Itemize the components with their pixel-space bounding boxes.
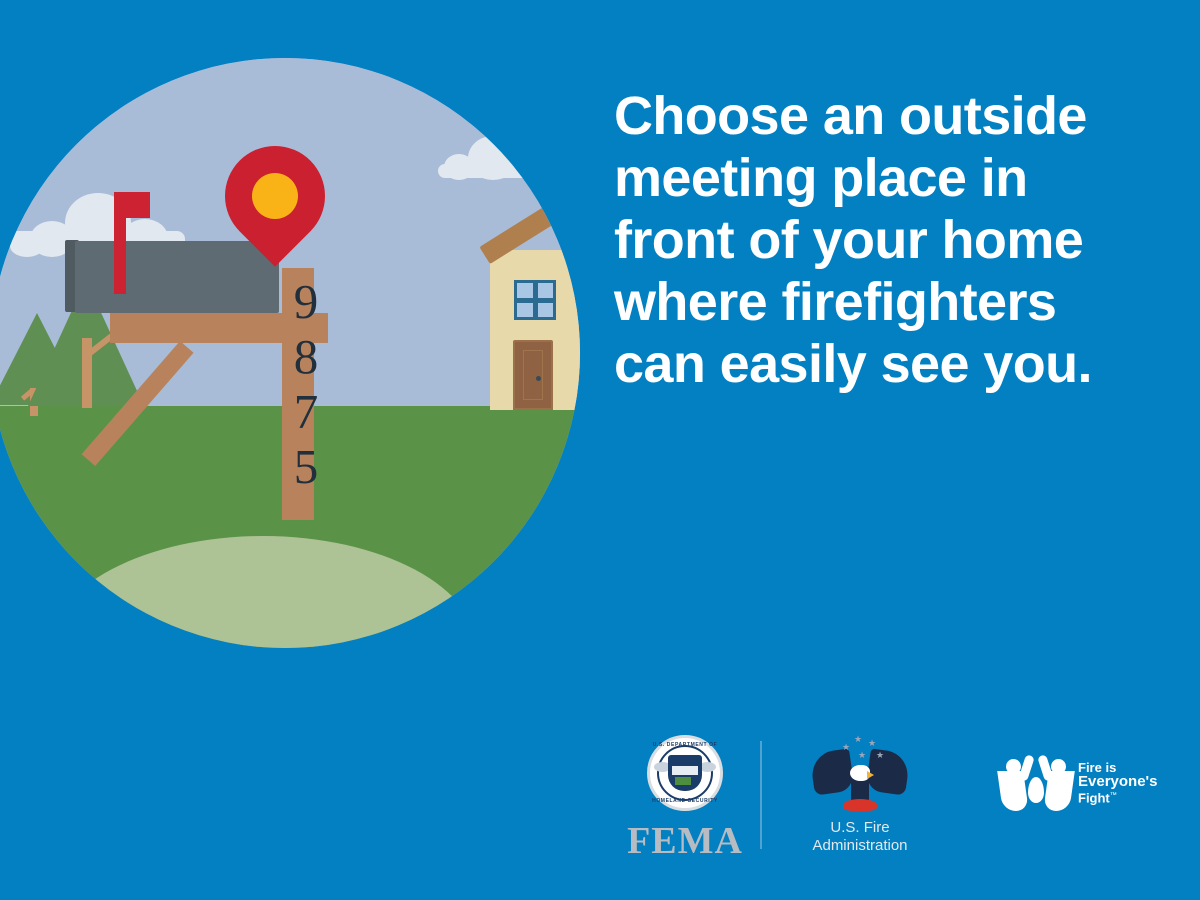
- mailbox-house-numbers: 9 8 7 5: [286, 274, 326, 494]
- fief-line-3-text: Fight: [1078, 790, 1110, 805]
- dhs-seal-bottom-text: HOMELAND SECURITY: [650, 798, 720, 804]
- house-number-digit: 8: [286, 329, 326, 384]
- poster-canvas: 9 8 7 5 Choose an outside meeting place …: [0, 0, 1200, 900]
- fire-is-everyones-fight-logo: Fire is Everyone's Fight™: [1000, 753, 1180, 811]
- illustration-circle: 9 8 7 5: [0, 58, 580, 648]
- footer-divider: [760, 741, 762, 849]
- dhs-seal-icon: U.S. DEPARTMENT OF HOMELAND SECURITY: [647, 735, 723, 811]
- page-headline: Choose an outside meeting place in front…: [614, 85, 1154, 395]
- house-door: [513, 340, 553, 410]
- house-number-digit: 9: [286, 274, 326, 329]
- fief-trademark: ™: [1110, 792, 1117, 799]
- house-number-digit: 5: [286, 439, 326, 494]
- map-pin-center-dot: [242, 163, 307, 228]
- fema-wordmark: FEMA: [620, 821, 750, 861]
- usfa-eagle-icon: ★ ★ ★ ★ ★: [814, 735, 906, 813]
- fief-line-3: Fight™: [1078, 789, 1157, 805]
- house-window: [514, 280, 556, 320]
- usfa-wordmark: U.S. Fire Administration: [785, 819, 935, 855]
- usfa-logo: ★ ★ ★ ★ ★ U.S. Fire Administration: [785, 735, 935, 855]
- cloud-right-icon: [438, 136, 548, 186]
- fief-line-2: Everyone's: [1078, 775, 1157, 789]
- footer-logos: U.S. DEPARTMENT OF HOMELAND SECURITY FEM…: [600, 735, 1180, 865]
- usfa-line-2: Administration: [785, 837, 935, 855]
- two-people-flame-icon: [1000, 753, 1072, 811]
- fema-logo: U.S. DEPARTMENT OF HOMELAND SECURITY FEM…: [620, 735, 750, 861]
- house-number-digit: 7: [286, 384, 326, 439]
- dhs-seal-top-text: U.S. DEPARTMENT OF: [650, 742, 720, 748]
- fire-is-everyones-fight-text: Fire is Everyone's Fight™: [1078, 761, 1157, 805]
- usfa-line-1: U.S. Fire: [785, 819, 935, 837]
- mailbox-flag: [114, 216, 126, 294]
